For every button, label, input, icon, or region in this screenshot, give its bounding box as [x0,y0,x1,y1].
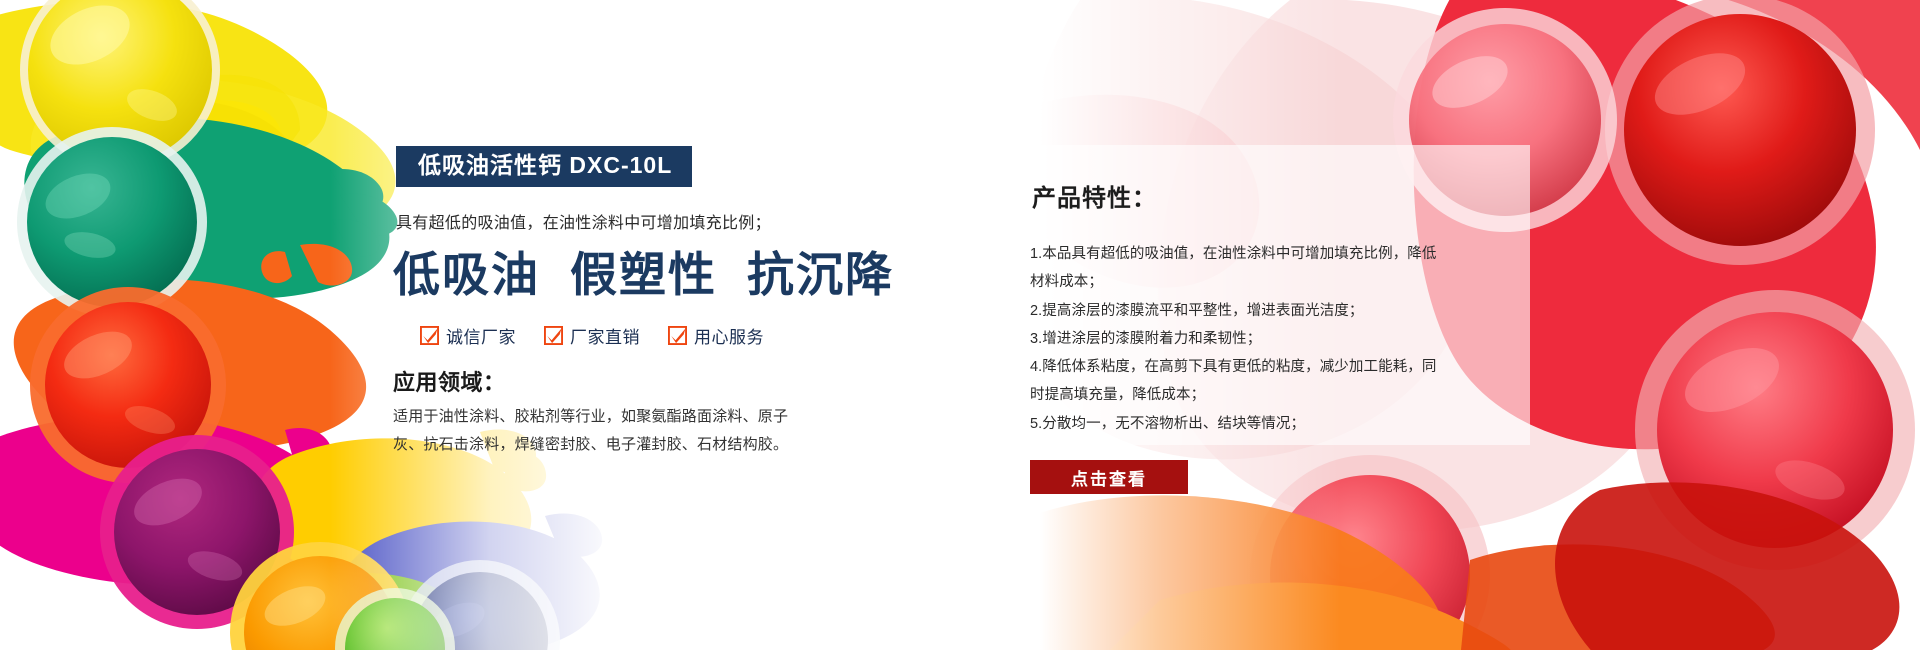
feature-item-3: 用心服务 [668,323,764,348]
panel-feature-4: 4.降低体系粘度，在高剪下具有更低的粘度，减少加工能耗，同时提高填充量，降低成本… [1030,353,1450,410]
panel-feature-3: 3.增进涂层的漆膜附着力和柔韧性； [1030,325,1450,353]
panel-feature-2: 2.提高涂层的漆膜流平和平整性，增进表面光洁度； [1030,297,1450,325]
check-box-icon [544,326,563,345]
check-box-icon [668,326,687,345]
headline-word-2: 假塑性 [570,248,717,301]
feature-item-2: 厂家直销 [544,323,640,348]
headline-word-1: 低吸油 [393,248,540,301]
feature-item-1: 诚信厂家 [420,323,516,348]
application-section-title: 应用领域： [393,365,506,397]
feature-label-2: 厂家直销 [570,323,640,348]
feature-label-1: 诚信厂家 [446,323,516,348]
application-description: 适用于油性涂料、胶粘剂等行业，如聚氨酯路面涂料、原子灰、抗石击涂料，焊缝密封胶、… [393,403,803,459]
product-info-block: 低吸油活性钙 DXC-10L 具有超低的吸油值，在油性涂料中可增加填充比例； 低… [0,0,1000,650]
view-details-button[interactable]: 点击查看 [1030,460,1188,494]
product-title-badge: 低吸油活性钙 DXC-10L [396,146,692,187]
product-title: 低吸油活性钙 DXC-10L [418,152,672,178]
headline-word-3: 抗沉降 [747,248,894,301]
panel-feature-1: 1.本品具有超低的吸油值，在油性涂料中可增加填充比例，降低材料成本； [1030,240,1450,297]
panel-feature-5: 5.分散均一，无不溶物析出、结块等情况； [1030,410,1450,438]
check-box-icon [420,326,439,345]
feature-label-3: 用心服务 [694,323,764,348]
feature-list: 诚信厂家 厂家直销 用心服务 [420,323,764,348]
product-headline: 低吸油假塑性抗沉降 [393,248,894,302]
product-subtitle: 具有超低的吸油值，在油性涂料中可增加填充比例； [396,209,771,233]
panel-title: 产品特性： [1032,178,1157,213]
promo-banner: 低吸油活性钙 DXC-10L 具有超低的吸油值，在油性涂料中可增加填充比例； 低… [0,0,1920,650]
panel-feature-list: 1.本品具有超低的吸油值，在油性涂料中可增加填充比例，降低材料成本； 2.提高涂… [1030,240,1450,438]
